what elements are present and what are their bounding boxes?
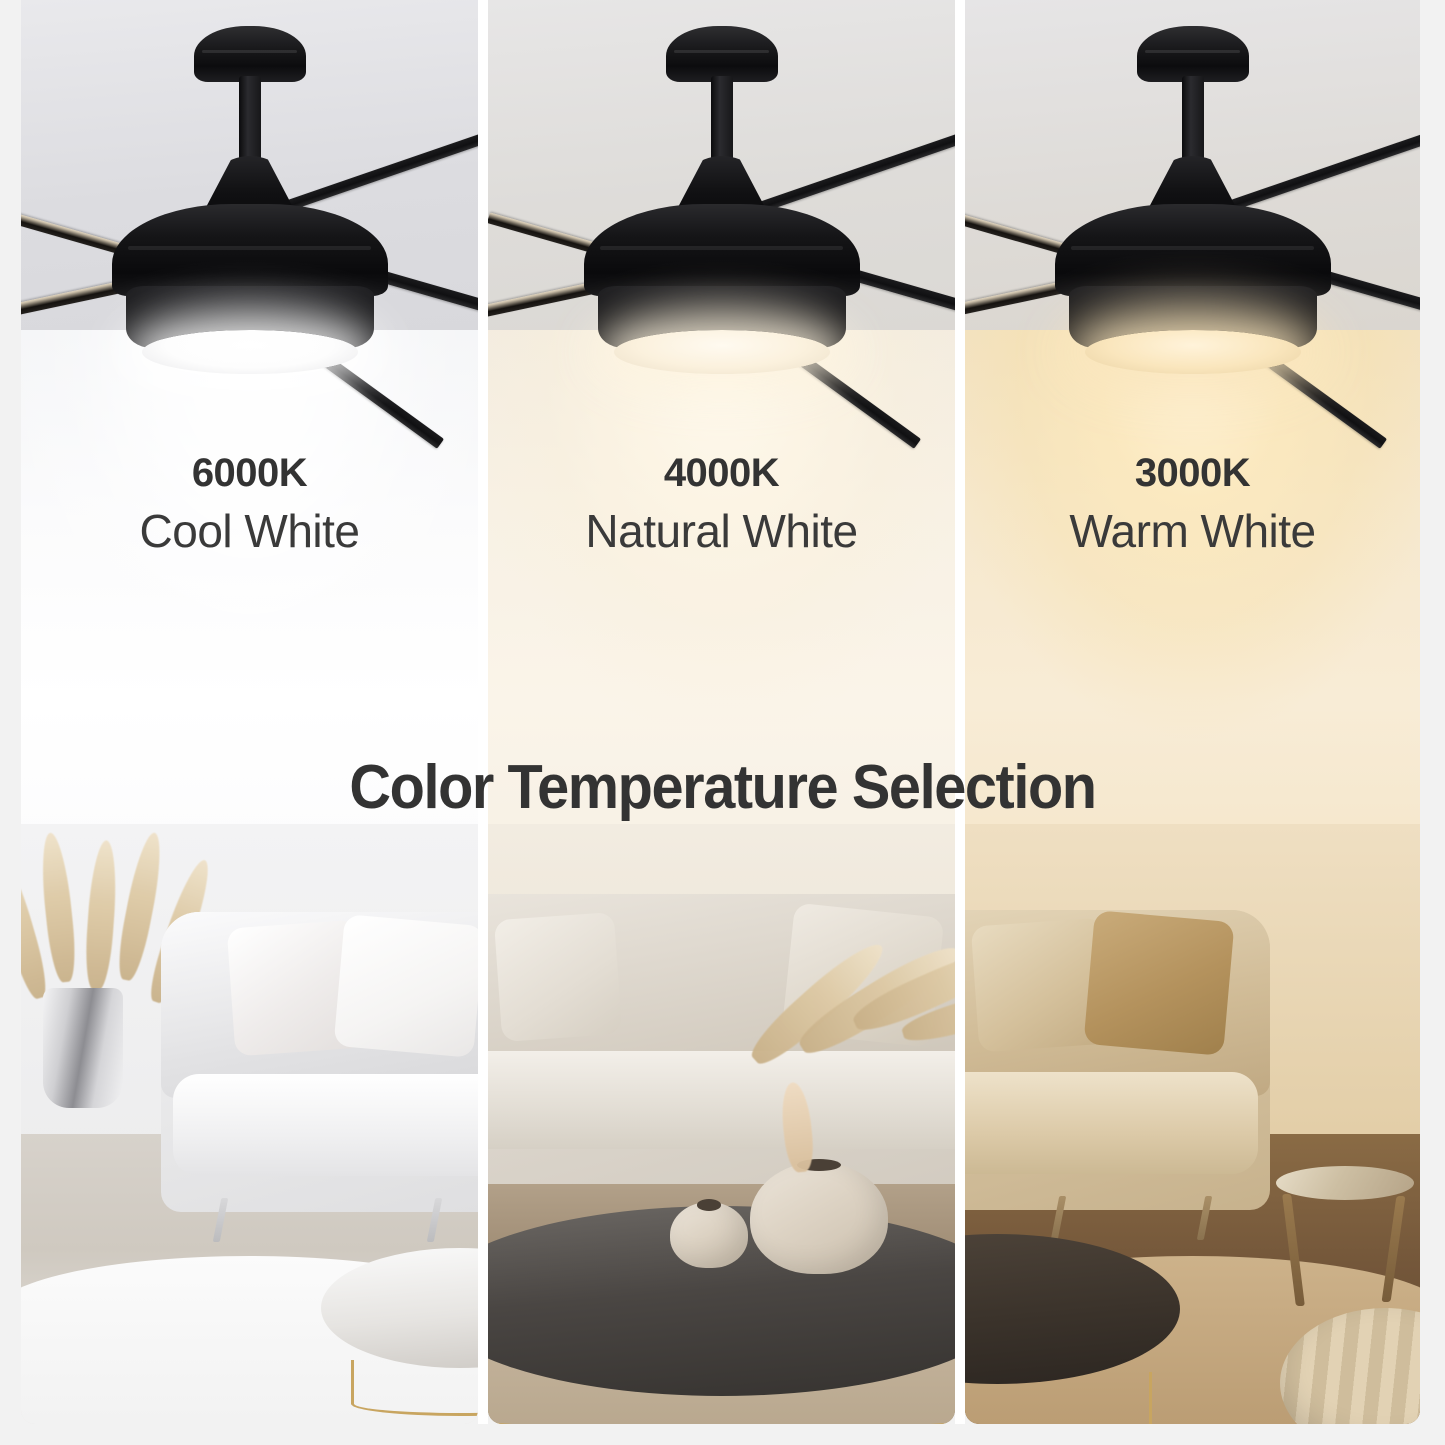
panel-natural-white: 4000K Natural White [488,0,955,1424]
panel-cool-white: 6000K Cool White [21,0,478,1424]
fan-downrod [239,76,261,162]
tone-name: Cool White [21,506,478,557]
panel-warm-white: 3000K Warm White [965,0,1420,1424]
throw-pillow [1083,910,1234,1056]
small-ceramic-vase [670,1202,748,1268]
coffee-table-frame [965,1372,1152,1424]
tone-name: Warm White [965,506,1420,557]
led-light-diffuser [614,330,830,374]
led-light-diffuser [142,330,358,374]
ceiling-fan [21,18,478,418]
fan-motor-housing [584,204,860,296]
side-table-top [1276,1166,1414,1200]
fan-motor-housing [112,204,388,296]
room-scene-cool [21,824,478,1424]
ceiling-fan [965,18,1420,418]
sofa-seat [488,1051,955,1150]
throw-pillow [494,912,622,1042]
page-title: Color Temperature Selection [51,752,1395,823]
label-block-warm: 3000K Warm White [965,452,1420,557]
fan-downrod [711,76,733,162]
kelvin-value: 3000K [965,452,1420,494]
fan-canopy [1137,26,1249,82]
silver-vase [43,988,123,1108]
label-block-natural: 4000K Natural White [488,452,955,557]
panel-divider [955,0,965,1424]
large-ceramic-vase [750,1162,888,1274]
fan-downrod [1182,76,1204,162]
panel-divider [478,0,488,1424]
tone-name: Natural White [488,506,955,557]
led-light-diffuser [1085,330,1301,374]
fan-motor-housing [1055,204,1331,296]
coffee-table-frame [351,1360,478,1416]
room-scene-warm [965,824,1420,1424]
throw-pillow [334,914,478,1058]
ceiling-fan [492,18,952,418]
sofa-seat [965,1072,1258,1174]
fan-canopy [666,26,778,82]
label-block-cool: 6000K Cool White [21,452,478,557]
color-temperature-comparison-image: 6000K Cool White [0,0,1445,1445]
coffee-table-frame [488,1362,955,1424]
sofa-seat [173,1074,478,1176]
fan-canopy [194,26,306,82]
room-scene-natural [488,824,955,1424]
kelvin-value: 4000K [488,452,955,494]
kelvin-value: 6000K [21,452,478,494]
